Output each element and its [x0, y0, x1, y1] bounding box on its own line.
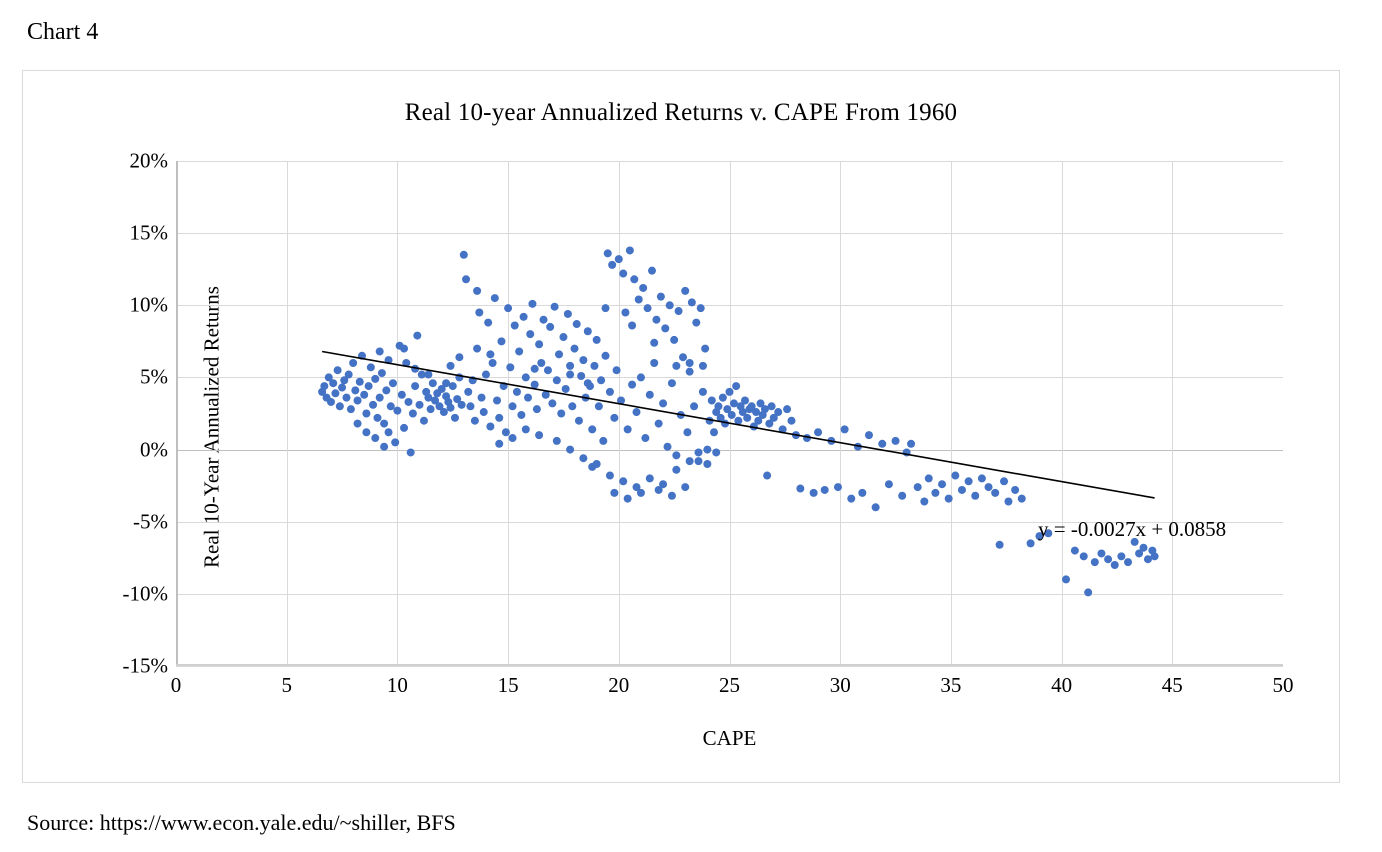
scatter-point — [652, 316, 660, 324]
scatter-point — [502, 428, 510, 436]
scatter-point — [351, 386, 359, 394]
scatter-point — [688, 298, 696, 306]
scatter-point — [464, 388, 472, 396]
scatter-point — [590, 362, 598, 370]
scatter-point — [1071, 547, 1079, 555]
scatter-point — [606, 472, 614, 480]
scatter-point — [334, 366, 342, 374]
scatter-point — [568, 402, 576, 410]
scatter-point — [566, 371, 574, 379]
scatter-point — [320, 382, 328, 390]
scatter-point — [522, 425, 530, 433]
scatter-point — [637, 489, 645, 497]
scatter-point — [597, 376, 605, 384]
gridline-horizontal — [176, 666, 1283, 667]
scatter-point — [354, 397, 362, 405]
scatter-point — [398, 391, 406, 399]
scatter-point — [493, 397, 501, 405]
source-note: Source: https://www.econ.yale.edu/~shill… — [27, 810, 456, 836]
scatter-point — [427, 405, 435, 413]
scatter-point — [898, 492, 906, 500]
chart-label: Chart 4 — [27, 18, 98, 47]
scatter-point — [743, 414, 751, 422]
scatter-point — [345, 371, 353, 379]
scatter-point — [491, 294, 499, 302]
scatter-point — [400, 345, 408, 353]
y-tick-label: 5% — [48, 365, 168, 390]
scatter-point — [626, 246, 634, 254]
scatter-point — [958, 486, 966, 494]
scatter-point — [579, 454, 587, 462]
scatter-point — [644, 304, 652, 312]
scatter-point — [661, 324, 669, 332]
scatter-point — [821, 486, 829, 494]
y-tick-label: 15% — [48, 221, 168, 246]
scatter-point — [650, 339, 658, 347]
x-tick-label: 10 — [387, 673, 408, 698]
scatter-point — [847, 495, 855, 503]
scatter-point — [533, 405, 541, 413]
scatter-point — [393, 407, 401, 415]
scatter-point — [619, 270, 627, 278]
scatter-point — [650, 359, 658, 367]
scatter-point — [458, 401, 466, 409]
scatter-point — [571, 345, 579, 353]
chart-frame: Real 10-year Annualized Returns v. CAPE … — [22, 70, 1340, 783]
scatter-point — [486, 422, 494, 430]
scatter-point — [546, 323, 554, 331]
scatter-point — [628, 381, 636, 389]
x-tick-label: 25 — [719, 673, 740, 698]
scatter-point — [548, 399, 556, 407]
scatter-point — [712, 448, 720, 456]
scatter-point — [703, 446, 711, 454]
scatter-point — [621, 309, 629, 317]
scatter-point — [719, 394, 727, 402]
scatter-point — [741, 397, 749, 405]
scatter-point — [945, 495, 953, 503]
scatter-point — [409, 410, 417, 418]
scatter-point — [885, 480, 893, 488]
scatter-point — [951, 472, 959, 480]
scatter-point — [639, 284, 647, 292]
scatter-point — [528, 300, 536, 308]
scatter-point — [686, 368, 694, 376]
scatter-point — [768, 402, 776, 410]
scatter-point — [506, 363, 514, 371]
scatter-point — [362, 428, 370, 436]
scatter-point — [391, 438, 399, 446]
scatter-point — [602, 304, 610, 312]
scatter-point — [1004, 498, 1012, 506]
scatter-point — [774, 408, 782, 416]
scatter-series — [318, 246, 1158, 596]
scatter-point — [610, 489, 618, 497]
scatter-point — [376, 394, 384, 402]
scatter-point — [473, 287, 481, 295]
scatter-point — [648, 267, 656, 275]
scatter-point — [577, 372, 585, 380]
scatter-point — [478, 394, 486, 402]
scatter-point — [526, 330, 534, 338]
scatter-point — [675, 307, 683, 315]
scatter-point — [668, 492, 676, 500]
y-tick-label: -10% — [48, 581, 168, 606]
scatter-point — [365, 382, 373, 390]
scatter-point — [338, 384, 346, 392]
scatter-point — [666, 301, 674, 309]
scatter-point — [1151, 552, 1159, 560]
scatter-point — [367, 363, 375, 371]
scatter-point — [692, 319, 700, 327]
scatter-point — [714, 402, 722, 410]
scatter-point — [489, 359, 497, 367]
scatter-point — [606, 388, 614, 396]
scatter-point — [404, 398, 412, 406]
scatter-point — [579, 356, 587, 364]
scatter-point — [599, 437, 607, 445]
scatter-point — [1091, 558, 1099, 566]
scatter-point — [573, 320, 581, 328]
scatter-point — [588, 463, 596, 471]
scatter-point — [931, 489, 939, 497]
scatter-point — [360, 391, 368, 399]
scatter-point — [497, 337, 505, 345]
scatter-point — [1011, 486, 1019, 494]
scatter-point — [389, 379, 397, 387]
scatter-point — [416, 401, 424, 409]
plot-area: 20%15%10%5%0%-5%-10%-15%0510152025303540… — [176, 161, 1283, 666]
scatter-point — [342, 394, 350, 402]
scatter-point — [624, 425, 632, 433]
scatter-point — [683, 428, 691, 436]
scatter-point — [858, 489, 866, 497]
scatter-point — [509, 434, 517, 442]
scatter-point — [892, 437, 900, 445]
scatter-point — [400, 424, 408, 432]
scatter-point — [630, 275, 638, 283]
scatter-point — [540, 316, 548, 324]
scatter-point — [537, 359, 545, 367]
scatter-point — [925, 474, 933, 482]
scatter-point — [787, 417, 795, 425]
scatter-point — [664, 443, 672, 451]
x-tick-label: 15 — [498, 673, 519, 698]
scatter-point — [655, 486, 663, 494]
scatter-point — [659, 399, 667, 407]
scatter-point — [613, 366, 621, 374]
scatter-point — [471, 417, 479, 425]
x-tick-label: 20 — [608, 673, 629, 698]
scatter-point — [695, 448, 703, 456]
scatter-point — [480, 408, 488, 416]
scatter-point — [544, 366, 552, 374]
scatter-point — [475, 309, 483, 317]
scatter-point — [509, 402, 517, 410]
scatter-point — [466, 402, 474, 410]
scatter-point — [347, 405, 355, 413]
scatter-point — [834, 483, 842, 491]
scatter-point — [1080, 552, 1088, 560]
scatter-point — [878, 440, 886, 448]
scatter-point — [376, 347, 384, 355]
scatter-point — [354, 420, 362, 428]
scatter-point — [424, 371, 432, 379]
scatter-point — [865, 431, 873, 439]
scatter-point — [978, 474, 986, 482]
scatter-point — [699, 362, 707, 370]
scatter-point — [557, 410, 565, 418]
scatter-point — [1062, 575, 1070, 583]
scatter-point — [608, 261, 616, 269]
scatter-point — [378, 369, 386, 377]
scatter-point — [728, 411, 736, 419]
scatter-point — [670, 336, 678, 344]
scatter-point — [455, 353, 463, 361]
scatter-point — [535, 340, 543, 348]
scatter-point — [1084, 588, 1092, 596]
scatter-point — [356, 378, 364, 386]
scatter-point — [624, 495, 632, 503]
scatter-point — [387, 402, 395, 410]
scatter-point — [413, 332, 421, 340]
scatter-point — [646, 391, 654, 399]
trendline — [322, 351, 1154, 497]
scatter-point — [686, 359, 694, 367]
scatter-point — [703, 460, 711, 468]
scatter-point — [551, 303, 559, 311]
scatter-point — [373, 414, 381, 422]
scatter-point — [679, 353, 687, 361]
scatter-point — [637, 373, 645, 381]
scatter-point — [559, 333, 567, 341]
scatter-point — [697, 304, 705, 312]
scatter-point — [575, 417, 583, 425]
x-tick-label: 0 — [171, 673, 182, 698]
scatter-point — [331, 389, 339, 397]
scatter-point — [329, 379, 337, 387]
scatter-point — [504, 304, 512, 312]
scatter-point — [531, 365, 539, 373]
y-tick-label: 20% — [48, 149, 168, 174]
scatter-point — [482, 371, 490, 379]
scatter-point — [1111, 561, 1119, 569]
x-axis-title: CAPE — [176, 726, 1283, 751]
scatter-point — [681, 483, 689, 491]
scatter-point — [515, 347, 523, 355]
scatter-point — [872, 503, 880, 511]
scatter-point — [473, 345, 481, 353]
scatter-point — [447, 362, 455, 370]
scatter-point — [985, 483, 993, 491]
scatter-point — [535, 431, 543, 439]
scatter-point — [668, 379, 676, 387]
scatter-point — [615, 255, 623, 263]
scatter-point — [566, 446, 574, 454]
scatter-point — [708, 397, 716, 405]
x-tick-label: 5 — [281, 673, 292, 698]
scatter-point — [686, 457, 694, 465]
x-tick-label: 35 — [940, 673, 961, 698]
scatter-point — [646, 474, 654, 482]
y-tick-label: 10% — [48, 293, 168, 318]
scatter-point — [327, 398, 335, 406]
scatter-point — [633, 408, 641, 416]
scatter-point — [641, 434, 649, 442]
scatter-point — [553, 376, 561, 384]
scatter-point — [460, 251, 468, 259]
scatter-point — [517, 411, 525, 419]
scatter-point — [604, 249, 612, 257]
scatter-point — [564, 310, 572, 318]
trendline-equation-annotation: y = -0.0027x + 0.0858 — [1038, 517, 1226, 542]
scatter-point — [495, 414, 503, 422]
scatter-point — [495, 440, 503, 448]
scatter-point — [447, 404, 455, 412]
scatter-point — [380, 420, 388, 428]
scatter-point — [369, 401, 377, 409]
scatter-point — [695, 457, 703, 465]
scatter-point — [380, 443, 388, 451]
scatter-point — [690, 402, 698, 410]
scatter-point — [938, 480, 946, 488]
scatter-point — [520, 313, 528, 321]
scatter-point — [655, 420, 663, 428]
scatter-point — [763, 472, 771, 480]
scatter-point — [584, 327, 592, 335]
scatter-point — [440, 408, 448, 416]
scatter-point — [602, 352, 610, 360]
scatter-point — [595, 402, 603, 410]
scatter-point — [382, 386, 390, 394]
plot-wrapper: Real 10-Year Annualized Returns 20%15%10… — [23, 71, 1339, 782]
scatter-point — [588, 425, 596, 433]
scatter-point — [362, 410, 370, 418]
scatter-point — [566, 362, 574, 370]
scatter-point — [553, 437, 561, 445]
scatter-point — [1027, 539, 1035, 547]
scatter-point — [1104, 555, 1112, 563]
scatter-point — [672, 451, 680, 459]
scatter-point — [486, 350, 494, 358]
scatter-point — [699, 388, 707, 396]
scatter-point — [562, 385, 570, 393]
scatter-point — [1000, 477, 1008, 485]
x-tick-label: 45 — [1162, 673, 1183, 698]
scatter-point — [965, 477, 973, 485]
scatter-point — [814, 428, 822, 436]
scatter-point — [593, 336, 601, 344]
scatter-point — [841, 425, 849, 433]
y-tick-label: 0% — [48, 437, 168, 462]
x-tick-label: 50 — [1273, 673, 1294, 698]
scatter-point — [710, 428, 718, 436]
scatter-point — [681, 287, 689, 295]
scatter-point — [726, 388, 734, 396]
scatter-point — [1018, 495, 1026, 503]
scatter-point — [732, 382, 740, 390]
x-tick-label: 40 — [1051, 673, 1072, 698]
scatter-point — [385, 428, 393, 436]
scatter-point — [810, 489, 818, 497]
scatter-point — [635, 296, 643, 304]
scatter-point — [555, 350, 563, 358]
scatter-point — [672, 466, 680, 474]
scatter-point — [783, 405, 791, 413]
scatter-point — [628, 321, 636, 329]
y-tick-label: -15% — [48, 654, 168, 679]
scatter-point — [672, 362, 680, 370]
scatter-point — [584, 379, 592, 387]
scatter-point — [920, 498, 928, 506]
scatter-point — [531, 381, 539, 389]
scatter-point — [451, 414, 459, 422]
scatter-point — [462, 275, 470, 283]
scatter-point — [522, 373, 530, 381]
scatter-point — [336, 402, 344, 410]
scatter-point — [610, 414, 618, 422]
scatter-point — [411, 382, 419, 390]
scatter-point — [407, 448, 415, 456]
scatter-point — [996, 541, 1004, 549]
scatter-point — [619, 477, 627, 485]
scatter-point — [371, 375, 379, 383]
scatter-point — [991, 489, 999, 497]
scatter-point — [1117, 552, 1125, 560]
scatter-point — [484, 319, 492, 327]
scatter-point — [349, 359, 357, 367]
y-tick-label: -5% — [48, 509, 168, 534]
scatter-point — [971, 492, 979, 500]
scatter-point — [524, 394, 532, 402]
scatter-point — [796, 485, 804, 493]
scatter-point — [513, 388, 521, 396]
scatter-point — [907, 440, 915, 448]
scatter-point — [511, 321, 519, 329]
scatter-plot — [176, 161, 1283, 666]
scatter-point — [1140, 544, 1148, 552]
scatter-point — [701, 345, 709, 353]
scatter-point — [420, 417, 428, 425]
scatter-point — [1097, 549, 1105, 557]
x-tick-label: 30 — [830, 673, 851, 698]
scatter-point — [657, 293, 665, 301]
scatter-point — [1124, 558, 1132, 566]
scatter-point — [371, 434, 379, 442]
scatter-point — [429, 379, 437, 387]
scatter-point — [442, 379, 450, 387]
scatter-point — [914, 483, 922, 491]
